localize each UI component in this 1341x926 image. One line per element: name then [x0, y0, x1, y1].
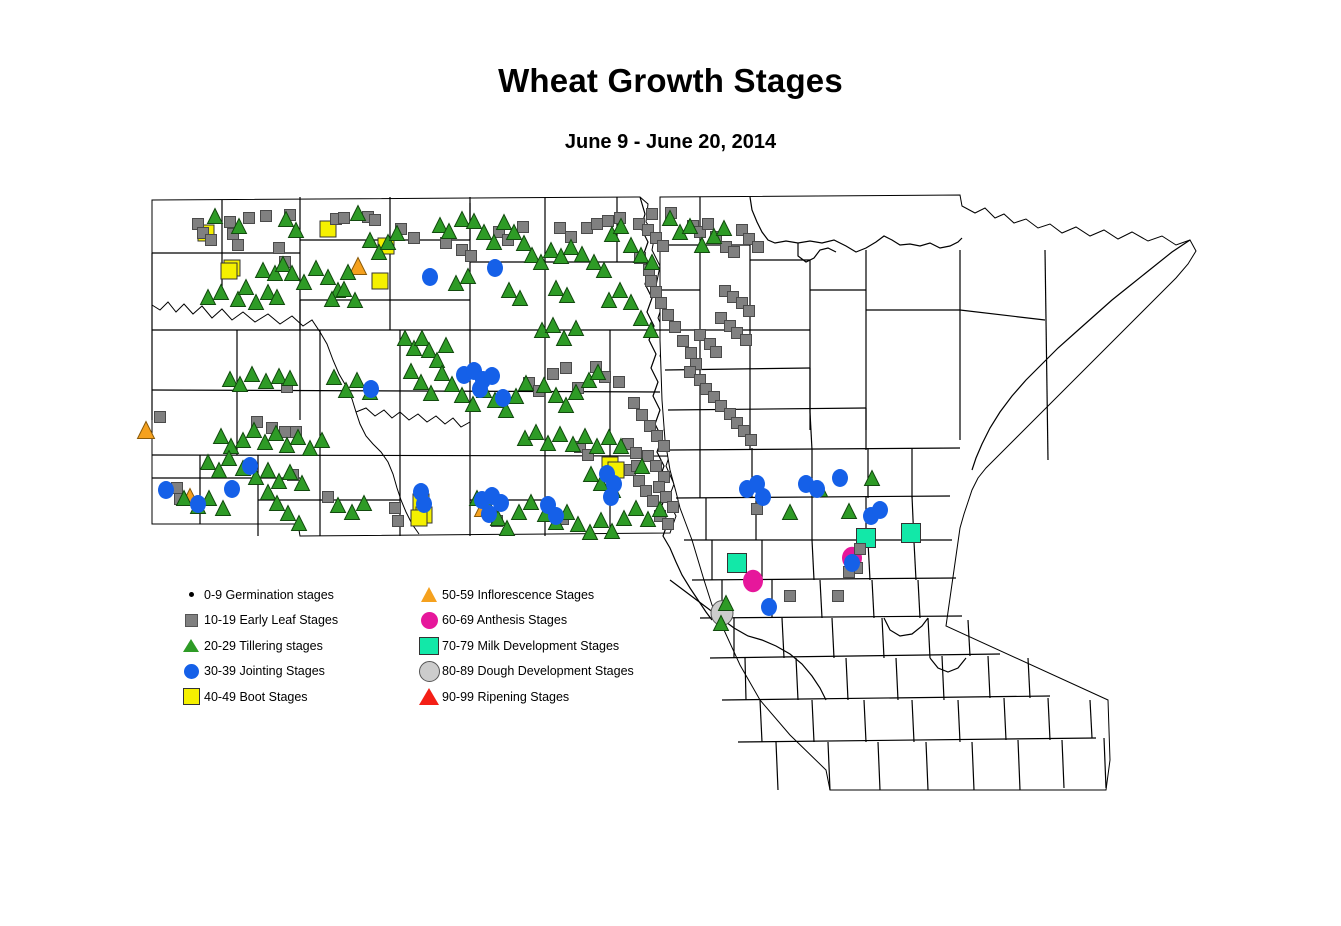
legend-item[interactable]: 50-59 Inflorescence Stages	[416, 582, 656, 608]
map-marker-early_leaf	[648, 496, 659, 507]
map-marker-jointing	[158, 481, 174, 499]
legend-label: 30-39 Jointing Stages	[204, 665, 325, 678]
legend-item[interactable]: 30-39 Jointing Stages	[178, 659, 418, 685]
legend: 0-9 Germination stages 10-19 Early Leaf …	[178, 582, 648, 710]
map-marker-early_leaf	[518, 222, 529, 233]
legend-item[interactable]: 20-29 Tillering stages	[178, 633, 418, 659]
map-marker-early_leaf	[686, 348, 697, 359]
map-marker-early_leaf	[741, 335, 752, 346]
legend-label: 80-89 Dough Development Stages	[442, 665, 634, 678]
map-marker-early_leaf	[555, 223, 566, 234]
map-marker-early_leaf	[746, 435, 757, 446]
map-marker-jointing	[242, 457, 258, 475]
map-marker-jointing	[832, 469, 848, 487]
map-marker-early_leaf	[393, 516, 404, 527]
map-marker-early_leaf	[582, 223, 593, 234]
map-marker-early_leaf	[647, 209, 658, 220]
map-marker-early_leaf	[641, 486, 652, 497]
map-marker-early_leaf	[629, 398, 640, 409]
circle-marker-icon	[416, 609, 442, 631]
map-marker-early_leaf	[651, 461, 662, 472]
triangle-marker-icon	[416, 686, 442, 708]
map-marker-early_leaf	[695, 330, 706, 341]
map-marker-early_leaf	[652, 431, 663, 442]
map-marker-early_leaf	[729, 247, 740, 258]
map-marker-early_leaf	[441, 238, 452, 249]
map-marker-jointing	[416, 495, 432, 513]
square-marker-icon	[416, 635, 442, 657]
map-marker-early_leaf	[390, 503, 401, 514]
map-marker-early_leaf	[668, 502, 679, 513]
map-marker-early_leaf	[855, 544, 866, 555]
map-marker-early_leaf	[654, 482, 665, 493]
triangle-marker-icon	[416, 584, 442, 606]
map-marker-early_leaf	[661, 492, 672, 503]
map-marker-early_leaf	[670, 322, 681, 333]
legend-item[interactable]: 80-89 Dough Development Stages	[416, 659, 656, 685]
legend-label: 10-19 Early Leaf Stages	[204, 614, 338, 627]
map-marker-jointing	[472, 380, 488, 398]
map-marker-early_leaf	[785, 591, 796, 602]
legend-label: 50-59 Inflorescence Stages	[442, 589, 594, 602]
map-marker-early_leaf	[370, 215, 381, 226]
map-marker-early_leaf	[703, 219, 714, 230]
map-marker-early_leaf	[244, 213, 255, 224]
map-marker-early_leaf	[233, 240, 244, 251]
map-marker-jointing	[809, 480, 825, 498]
square-marker-icon	[178, 609, 204, 631]
map-marker-early_leaf	[261, 211, 272, 222]
square-marker-icon	[178, 686, 204, 708]
map-marker-early_leaf	[833, 591, 844, 602]
legend-item[interactable]: 90-99 Ripening Stages	[416, 684, 656, 710]
map-marker-early_leaf	[711, 347, 722, 358]
circle-marker-icon	[178, 660, 204, 682]
map-marker-early_leaf	[643, 451, 654, 462]
map-marker-early_leaf	[592, 219, 603, 230]
map-marker-early_leaf	[678, 336, 689, 347]
triangle-marker-icon	[178, 635, 204, 657]
map-marker-jointing	[487, 259, 503, 277]
map-marker-jointing	[422, 268, 438, 286]
map-marker-early_leaf	[659, 472, 670, 483]
legend-label: 60-69 Anthesis Stages	[442, 614, 567, 627]
legend-label: 20-29 Tillering stages	[204, 640, 323, 653]
map-marker-milk	[728, 554, 747, 573]
map-marker-boot	[221, 263, 237, 279]
map-marker-jointing	[603, 488, 619, 506]
legend-item[interactable]: 10-19 Early Leaf Stages	[178, 608, 418, 634]
map-canvas	[0, 0, 1341, 926]
map-marker-early_leaf	[603, 216, 614, 227]
map-marker-early_leaf	[339, 213, 350, 224]
map-marker-early_leaf	[637, 410, 648, 421]
legend-item[interactable]: 70-79 Milk Development Stages	[416, 633, 656, 659]
map-marker-early_leaf	[561, 363, 572, 374]
map-marker-early_leaf	[634, 476, 645, 487]
legend-item[interactable]: 60-69 Anthesis Stages	[416, 608, 656, 634]
legend-label: 90-99 Ripening Stages	[442, 691, 569, 704]
legend-column-left: 0-9 Germination stages 10-19 Early Leaf …	[178, 582, 418, 710]
map-marker-early_leaf	[631, 448, 642, 459]
map-marker-anthesis	[743, 570, 763, 592]
circle-marker-icon	[416, 660, 442, 682]
map-marker-early_leaf	[753, 242, 764, 253]
map-marker-milk	[902, 524, 921, 543]
map-marker-early_leaf	[659, 441, 670, 452]
map-marker-early_leaf	[548, 369, 559, 380]
map-marker-early_leaf	[744, 306, 755, 317]
map-marker-early_leaf	[658, 241, 669, 252]
map-marker-early_leaf	[409, 233, 420, 244]
map-marker-jointing	[599, 465, 615, 483]
legend-label: 70-79 Milk Development Stages	[442, 640, 619, 653]
map-marker-jointing	[548, 507, 564, 525]
map-marker-jointing	[224, 480, 240, 498]
map-marker-jointing	[190, 495, 206, 513]
map-marker-jointing	[495, 389, 511, 407]
map-marker-early_leaf	[466, 251, 477, 262]
map-marker-early_leaf	[614, 377, 625, 388]
map-marker-jointing	[761, 598, 777, 616]
legend-label: 40-49 Boot Stages	[204, 691, 308, 704]
map-marker-jointing	[755, 488, 771, 506]
map-marker-jointing	[484, 367, 500, 385]
map-marker-early_leaf	[646, 276, 657, 287]
map-marker-early_leaf	[663, 310, 674, 321]
wheat-growth-stages-map-page: Wheat Growth Stages June 9 - June 20, 20…	[0, 0, 1341, 926]
map-marker-jointing	[363, 380, 379, 398]
map-marker-early_leaf	[663, 519, 674, 530]
map-marker-early_leaf	[274, 243, 285, 254]
map-marker-early_leaf	[155, 412, 166, 423]
map-marker-early_leaf	[323, 492, 334, 503]
map-marker-early_leaf	[656, 298, 667, 309]
legend-column-right: 50-59 Inflorescence Stages 60-69 Anthesi…	[416, 582, 656, 710]
map-marker-jointing	[872, 501, 888, 519]
map-marker-boot	[372, 273, 388, 289]
map-marker-jointing	[481, 505, 497, 523]
legend-item[interactable]: 40-49 Boot Stages	[178, 684, 418, 710]
map-marker-early_leaf	[225, 217, 236, 228]
map-marker-early_leaf	[685, 367, 696, 378]
map-marker-early_leaf	[206, 235, 217, 246]
map-marker-early_leaf	[651, 287, 662, 298]
legend-label: 0-9 Germination stages	[204, 589, 334, 602]
legend-item[interactable]: 0-9 Germination stages	[178, 582, 418, 608]
map-marker-early_leaf	[645, 421, 656, 432]
map-marker-jointing	[844, 554, 860, 572]
dot-marker-icon	[178, 584, 204, 606]
